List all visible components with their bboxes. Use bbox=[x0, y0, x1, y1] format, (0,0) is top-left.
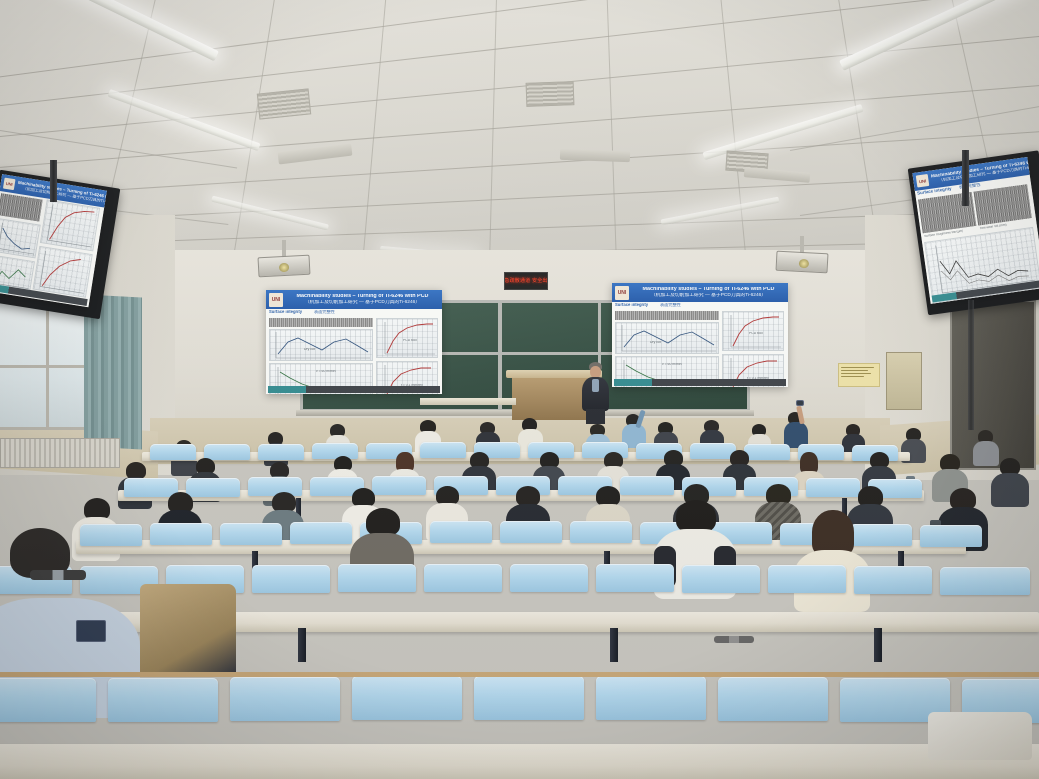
presenter-shirt bbox=[592, 379, 599, 392]
lecture-seat bbox=[744, 444, 790, 460]
plot-annotation: v = 60 m/min bbox=[316, 370, 336, 373]
emergency-exit-sign: 紧急疏散通道 安全出口 bbox=[504, 272, 548, 290]
university-logo: UNI bbox=[615, 286, 629, 300]
roughness-profile-strip bbox=[269, 318, 373, 327]
lecture-seat bbox=[220, 523, 282, 545]
slide-body: Surface integrity 表面完整性 Surface roughnes… bbox=[915, 175, 1039, 304]
lecture-seat bbox=[430, 521, 492, 543]
lecture-hall-photo: 紧急疏散通道 安全出口 UNI Machinability studies – … bbox=[0, 0, 1039, 779]
university-logo: UNI bbox=[3, 178, 16, 191]
plot-annotation: PCD tool bbox=[749, 332, 763, 335]
lecture-seat bbox=[420, 442, 466, 458]
lecture-seat bbox=[474, 676, 584, 720]
plot-curve bbox=[0, 219, 42, 259]
radiator bbox=[0, 438, 120, 468]
smartphone[interactable] bbox=[76, 620, 106, 642]
slide-content: UNI Machinability studies – Turning of T… bbox=[912, 157, 1039, 304]
plot-annotation: PCD tool bbox=[403, 339, 417, 342]
ceiling-air-vent bbox=[257, 88, 311, 119]
slide-body: Surface integrity 表面完整性 Dry cut bbox=[266, 309, 442, 394]
slide-header: UNI Machinability studies – Turning of T… bbox=[266, 290, 442, 309]
chalkboard-divider bbox=[498, 300, 502, 412]
lecture-seat bbox=[424, 564, 502, 592]
slide-header: UNI Machinability studies – Turning of T… bbox=[612, 283, 788, 302]
lecture-seat bbox=[252, 565, 330, 593]
roughness-profile-strip bbox=[0, 193, 43, 221]
desk-leg bbox=[874, 628, 882, 662]
plot-curve bbox=[270, 330, 374, 362]
exit-sign-text: 紧急疏散通道 安全出口 bbox=[504, 279, 548, 284]
slide-title-chinese: （机加工及切削加工研究 — 基于PCD刀具的Ti-6246） bbox=[632, 293, 785, 298]
eyeglasses[interactable] bbox=[714, 636, 754, 643]
roughness-profile-strip bbox=[974, 184, 1032, 225]
lecture-seat bbox=[186, 478, 240, 497]
plot-curve bbox=[41, 201, 101, 253]
projector-lens bbox=[279, 263, 289, 273]
lecture-seat bbox=[620, 476, 674, 495]
lecture-seat bbox=[352, 676, 462, 720]
tv-mount-pole bbox=[962, 150, 969, 206]
plot-tool-wear: PCD tool bbox=[376, 318, 438, 358]
lecture-seat bbox=[682, 565, 760, 593]
lecture-seat bbox=[248, 477, 302, 496]
slide-section-label-zh: 表面完整性 bbox=[314, 310, 335, 314]
slide-content: UNI Machinability studies – Turning of T… bbox=[612, 283, 788, 387]
plot-temperature bbox=[33, 246, 93, 298]
ceiling-projector-right bbox=[776, 251, 829, 274]
backpack bbox=[140, 584, 236, 676]
smartphone[interactable] bbox=[796, 400, 804, 406]
notice-board bbox=[838, 363, 880, 387]
right-wall-tv: UNI Machinability studies – Turning of T… bbox=[908, 150, 1039, 315]
slide-content: UNI Machinability studies – Turning of T… bbox=[266, 290, 442, 394]
slide-section-label-zh: 表面完整性 bbox=[660, 303, 681, 307]
lecture-seat bbox=[150, 523, 212, 545]
lecture-seat bbox=[570, 521, 632, 543]
lecture-seat bbox=[290, 522, 352, 544]
plot-annotation: Dry cut bbox=[304, 348, 315, 351]
slide-footer-bar bbox=[614, 379, 786, 386]
plot-tool-wear: PCD tool bbox=[722, 311, 784, 351]
plot-curve bbox=[616, 323, 720, 355]
wall-cabinet bbox=[886, 352, 922, 410]
slide-section-label: Surface integrity bbox=[615, 303, 648, 307]
plot-surface-roughness: Dry cut bbox=[269, 329, 373, 361]
tv-mount-pole bbox=[50, 160, 57, 202]
lecture-seat bbox=[806, 478, 860, 497]
lecture-seat bbox=[150, 444, 196, 460]
lecture-seat bbox=[500, 521, 562, 543]
slide-body bbox=[0, 191, 104, 307]
seat-wood-trim bbox=[0, 672, 1039, 677]
lecture-seat bbox=[596, 676, 706, 720]
lecture-desk-front bbox=[0, 744, 1039, 779]
lecture-seat bbox=[108, 678, 218, 722]
desk-leg bbox=[298, 628, 306, 662]
slide-body: Surface integrity 表面完整性 Dry cut bbox=[612, 302, 788, 387]
lecture-seat bbox=[258, 444, 304, 460]
university-logo: UNI bbox=[916, 174, 930, 188]
plot-annotation: v = 60 m/min bbox=[662, 363, 682, 366]
projector-lens bbox=[799, 259, 809, 269]
plot-surface-roughness: Dry cut bbox=[615, 322, 719, 354]
lecture-seat bbox=[230, 677, 340, 721]
ceiling-projector-left bbox=[258, 255, 311, 278]
university-logo: UNI bbox=[269, 293, 283, 307]
left-projection-screen: UNI Machinability studies – Turning of T… bbox=[266, 290, 442, 394]
lecture-seat bbox=[940, 567, 1030, 595]
lecture-seat bbox=[0, 678, 96, 722]
ceiling-air-vent bbox=[526, 81, 575, 107]
lecture-seat bbox=[920, 525, 982, 547]
lecture-seat bbox=[596, 564, 674, 592]
lecture-seat bbox=[204, 444, 250, 460]
lecture-seat bbox=[80, 524, 142, 546]
presenter-legs bbox=[586, 409, 605, 424]
lecture-seat bbox=[338, 564, 416, 592]
slide-section-label: Surface integrity bbox=[269, 310, 302, 314]
lecture-seat bbox=[312, 443, 358, 459]
slide-title-chinese: （机加工及切削加工研究 — 基于PCD刀具的Ti-6246） bbox=[286, 300, 439, 305]
right-tv-screen: UNI Machinability studies – Turning of T… bbox=[912, 157, 1039, 304]
plot-tool-wear bbox=[40, 199, 100, 251]
eyeglasses bbox=[30, 570, 86, 580]
folded-garment bbox=[928, 712, 1032, 760]
left-wall-tv: UNI Machinability studies – Turning of T… bbox=[0, 170, 120, 319]
right-projection-screen: UNI Machinability studies – Turning of T… bbox=[612, 283, 788, 387]
roughness-profile-strip bbox=[615, 311, 719, 320]
plot-annotation: Dry cut bbox=[650, 341, 661, 344]
lecture-seat bbox=[124, 478, 178, 497]
slide-footer-bar bbox=[268, 386, 440, 393]
presenter bbox=[578, 362, 614, 424]
tv-mount-pole bbox=[968, 300, 974, 430]
plot-surface-roughness bbox=[0, 218, 41, 258]
lecture-seat bbox=[850, 524, 912, 546]
desk-leg bbox=[610, 628, 618, 662]
front-table bbox=[420, 398, 516, 405]
lecture-seat bbox=[768, 565, 846, 593]
lecture-seat bbox=[372, 476, 426, 495]
lecture-seat bbox=[510, 564, 588, 592]
lecture-seat bbox=[854, 566, 932, 594]
lecture-seat bbox=[718, 677, 828, 721]
